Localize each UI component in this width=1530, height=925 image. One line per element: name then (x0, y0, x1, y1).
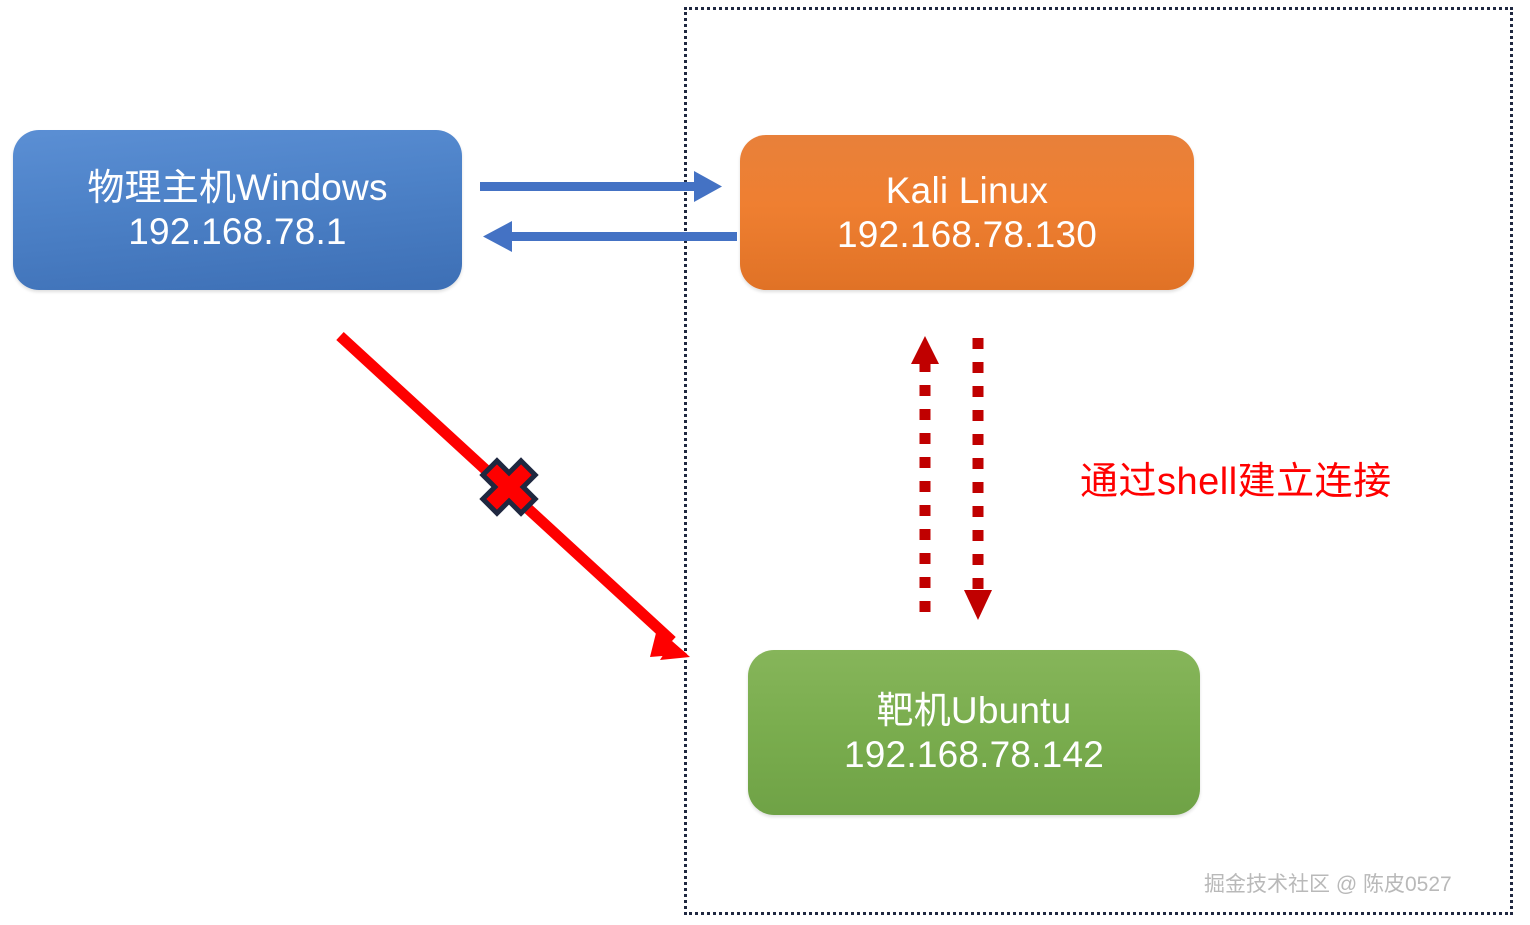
node-ubuntu-target[interactable]: 靶机Ubuntu 192.168.78.142 (748, 650, 1200, 815)
arrow-windows-to-ubuntu-blocked (340, 336, 690, 660)
node-kali-linux[interactable]: Kali Linux 192.168.78.130 (740, 135, 1194, 290)
node-ubuntu-target-ip: 192.168.78.142 (844, 733, 1104, 777)
blocked-cross-icon (471, 449, 547, 525)
node-windows-host-ip: 192.168.78.1 (128, 210, 346, 254)
node-kali-linux-name: Kali Linux (886, 169, 1048, 213)
shell-connection-label: 通过shell建立连接 (1080, 450, 1392, 505)
node-ubuntu-target-name: 靶机Ubuntu (877, 689, 1072, 733)
watermark-label: 掘金技术社区 @ 陈皮0527 (1204, 868, 1452, 898)
node-windows-host-name: 物理主机Windows (87, 166, 387, 210)
node-kali-linux-ip: 192.168.78.130 (837, 213, 1097, 257)
diagram-canvas: 物理主机Windows 192.168.78.1 Kali Linux 192.… (0, 0, 1530, 925)
node-windows-host[interactable]: 物理主机Windows 192.168.78.1 (13, 130, 462, 290)
